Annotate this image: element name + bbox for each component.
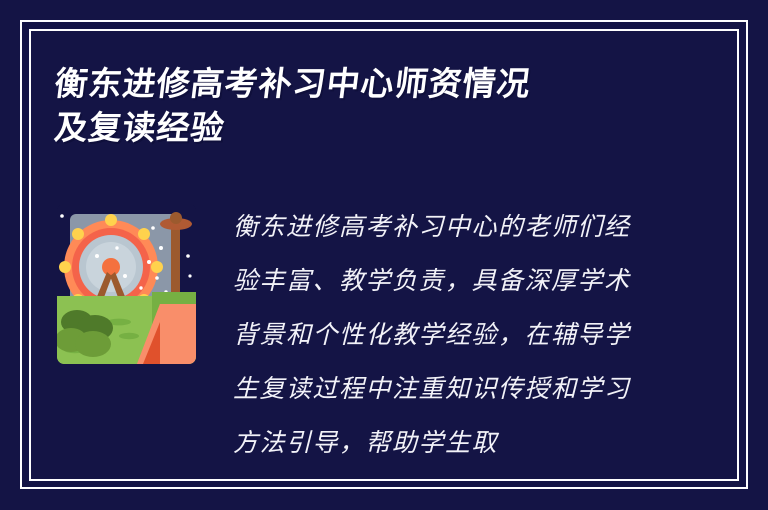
content-row: 衡东进修高考补习中心的老师们经验丰富、教学负责，具备深厚学术背景和个性化教学经验…: [0, 200, 768, 470]
illustration-container: [57, 204, 196, 364]
poster-canvas: 衡东进修高考补习中心师资情况 及复读经验: [0, 0, 768, 510]
title-line-2: 及复读经验: [52, 106, 697, 150]
ferris-wheel-carnival-night-icon: [57, 204, 196, 364]
body-paragraph: 衡东进修高考补习中心的老师们经验丰富、教学负责，具备深厚学术背景和个性化教学经验…: [233, 200, 653, 470]
title-line-1: 衡东进修高考补习中心师资情况: [52, 62, 697, 106]
page-title: 衡东进修高考补习中心师资情况 及复读经验: [52, 62, 692, 150]
